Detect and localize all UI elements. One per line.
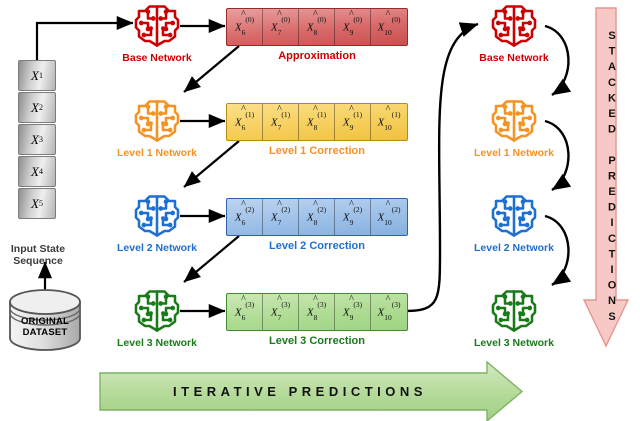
x-hat-symbol: ^X8(2) xyxy=(307,209,326,226)
state-cell-3: X3 xyxy=(18,124,56,155)
x-hat-symbol: ^X6(3) xyxy=(235,304,254,321)
network-label-level2: Level 2 Network xyxy=(100,242,214,254)
state-symbol: X xyxy=(31,68,39,84)
network-icon-level2[interactable] xyxy=(133,192,181,240)
brain-circuit-icon xyxy=(133,2,181,50)
vector-cell: ^X6(3) xyxy=(227,294,263,330)
network-icon-level3[interactable] xyxy=(133,287,181,335)
x-hat-symbol: ^X10(1) xyxy=(378,114,401,131)
x-hat-symbol: ^X9(3) xyxy=(343,304,362,321)
x-hat-symbol: ^X6(1) xyxy=(235,114,254,131)
right-network-icon-1[interactable] xyxy=(490,97,538,145)
x-hat-symbol: ^X8(1) xyxy=(307,114,326,131)
right-network-label-1: Level 1 Network xyxy=(457,147,571,159)
x-hat-symbol: ^X7(1) xyxy=(271,114,290,131)
state-cell-1: X1 xyxy=(18,60,56,91)
row-label-base: Approximation xyxy=(226,50,408,62)
input-state-sequence: X1 X2 X3 X4 X5 xyxy=(18,60,56,220)
x-hat-symbol: ^X9(2) xyxy=(343,209,362,226)
x-hat-symbol: ^X7(2) xyxy=(271,209,290,226)
row-label-level2: Level 2 Correction xyxy=(226,240,408,252)
diagram-canvas: X1 X2 X3 X4 X5 Input State Sequence ORIG… xyxy=(0,0,640,421)
dataset-label: ORIGINAL DATASET xyxy=(8,316,82,338)
right-network-label-0: Base Network xyxy=(457,52,571,64)
state-cell-4: X4 xyxy=(18,156,56,187)
x-hat-symbol: ^X7(3) xyxy=(271,304,290,321)
brain-circuit-icon xyxy=(133,97,181,145)
right-network-icon-2[interactable] xyxy=(490,192,538,240)
network-label-base: Base Network xyxy=(100,52,214,64)
vector-cell: ^X7(0) xyxy=(263,9,299,45)
x-hat-symbol: ^X10(2) xyxy=(378,209,401,226)
vector-cell: ^X6(1) xyxy=(227,104,263,140)
vector-cell: ^X7(1) xyxy=(263,104,299,140)
x-hat-symbol: ^X8(3) xyxy=(307,304,326,321)
vector-cell: ^X7(2) xyxy=(263,199,299,235)
arrow-level3-correction-to-right-base-network xyxy=(405,24,478,311)
state-cell-2: X2 xyxy=(18,92,56,123)
x-hat-symbol: ^X10(0) xyxy=(378,19,401,36)
right-network-label-3: Level 3 Network xyxy=(457,337,571,349)
right-network-icon-0[interactable] xyxy=(490,2,538,50)
row-label-level3: Level 3 Correction xyxy=(226,335,408,347)
network-icon-level1[interactable] xyxy=(133,97,181,145)
vector-row-level2: ^X6(2) ^X7(2) ^X8(2) ^X9(2) ^X10(2) xyxy=(226,198,408,236)
network-icon-base[interactable] xyxy=(133,2,181,50)
right-network-label-2: Level 2 Network xyxy=(457,242,571,254)
vector-cell: ^X9(0) xyxy=(335,9,371,45)
vector-cell: ^X9(1) xyxy=(335,104,371,140)
vector-cell: ^X8(2) xyxy=(299,199,335,235)
x-hat-symbol: ^X9(1) xyxy=(343,114,362,131)
vector-cell: ^X9(3) xyxy=(335,294,371,330)
x-hat-symbol: ^X7(0) xyxy=(271,19,290,36)
vector-cell: ^X10(0) xyxy=(371,9,407,45)
iterative-predictions-label: ITERATIVE PREDICTIONS xyxy=(150,384,450,399)
network-label-level3: Level 3 Network xyxy=(100,337,214,349)
network-label-level1: Level 1 Network xyxy=(100,147,214,159)
brain-circuit-icon xyxy=(490,287,538,335)
brain-circuit-icon xyxy=(490,2,538,50)
vector-cell: ^X9(2) xyxy=(335,199,371,235)
brain-circuit-icon xyxy=(133,192,181,240)
vector-cell: ^X8(1) xyxy=(299,104,335,140)
vector-row-level1: ^X6(1) ^X7(1) ^X8(1) ^X9(1) ^X10(1) xyxy=(226,103,408,141)
x-hat-symbol: ^X6(2) xyxy=(235,209,254,226)
brain-circuit-icon xyxy=(133,287,181,335)
x-hat-symbol: ^X6(0) xyxy=(235,19,254,36)
input-state-sequence-label: Input State Sequence xyxy=(6,243,70,267)
brain-circuit-icon xyxy=(490,97,538,145)
vector-cell: ^X8(3) xyxy=(299,294,335,330)
vector-cell: ^X10(2) xyxy=(371,199,407,235)
vector-row-base: ^X6(0) ^X7(0) ^X8(0) ^X9(0) ^X10(0) xyxy=(226,8,408,46)
vector-cell: ^X6(0) xyxy=(227,9,263,45)
stacked-predictions-label: STACKED PREDICTIONS xyxy=(592,30,618,326)
right-network-icon-3[interactable] xyxy=(490,287,538,335)
brain-circuit-icon xyxy=(490,192,538,240)
row-label-level1: Level 1 Correction xyxy=(226,145,408,157)
x-hat-symbol: ^X9(0) xyxy=(343,19,362,36)
x-hat-symbol: ^X10(3) xyxy=(378,304,401,321)
state-cell-5: X5 xyxy=(18,188,56,219)
vector-cell: ^X6(2) xyxy=(227,199,263,235)
vector-cell: ^X10(1) xyxy=(371,104,407,140)
state-subscript: 1 xyxy=(39,71,43,80)
vector-cell: ^X10(3) xyxy=(371,294,407,330)
vector-cell: ^X7(3) xyxy=(263,294,299,330)
vector-cell: ^X8(0) xyxy=(299,9,335,45)
vector-row-level3: ^X6(3) ^X7(3) ^X8(3) ^X9(3) ^X10(3) xyxy=(226,293,408,331)
x-hat-symbol: ^X8(0) xyxy=(307,19,326,36)
